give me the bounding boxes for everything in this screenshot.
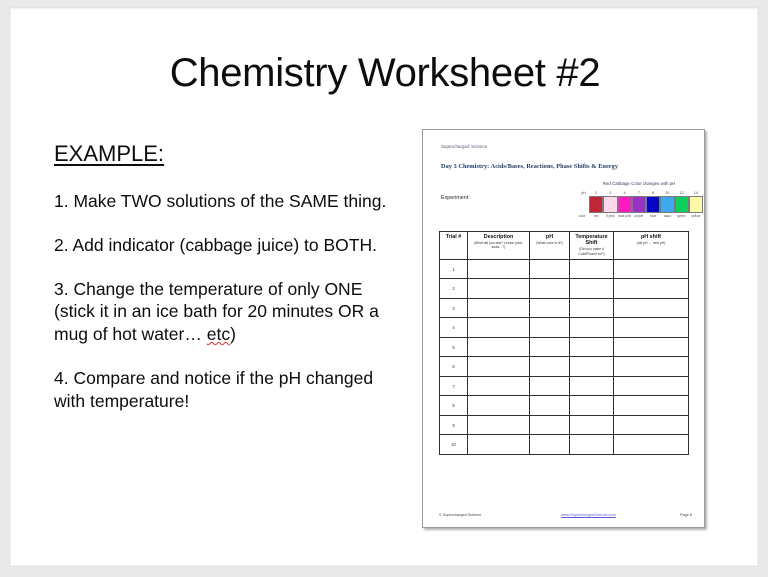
cell-ph-shift[interactable] — [614, 435, 689, 455]
cell-ph-shift[interactable] — [614, 337, 689, 357]
ph-scale-grid: pH 2 3 4 7 8 10 12 14 — [575, 191, 703, 218]
color-name: purple — [632, 213, 646, 218]
cell-description[interactable] — [468, 415, 530, 435]
cell-ph[interactable] — [530, 415, 570, 435]
cell-temperature-shift[interactable] — [570, 357, 614, 377]
trial-number: 4 — [440, 318, 468, 338]
table-row: 9 — [440, 415, 689, 435]
cell-description[interactable] — [468, 357, 530, 377]
trials-table: Trial # Description (What did you test? … — [439, 231, 689, 455]
table-row: 1 — [440, 259, 689, 279]
table-header: Trial # Description (What did you test? … — [440, 232, 689, 260]
worksheet-experiment-row: Experiment: Red Cabbage Color changes wi… — [439, 181, 688, 227]
column-title: Trial # — [441, 234, 466, 240]
color-name: blue — [646, 213, 660, 218]
table-row: 6 — [440, 357, 689, 377]
cell-ph-shift[interactable] — [614, 376, 689, 396]
column-header-temperature-shift: Temperature Shift (Did you make it Cold/… — [570, 232, 614, 260]
table-row: 7 — [440, 376, 689, 396]
copyright-text: © Supercharged Science — [439, 513, 525, 517]
experiment-label: Experiment: — [441, 195, 470, 201]
table-row: 2 — [440, 279, 689, 299]
cell-ph[interactable] — [530, 259, 570, 279]
cell-ph[interactable] — [530, 435, 570, 455]
cell-ph[interactable] — [530, 337, 570, 357]
trial-number: 9 — [440, 415, 468, 435]
cell-description[interactable] — [468, 396, 530, 416]
cell-temperature-shift[interactable] — [570, 318, 614, 338]
color-axis-label: color — [575, 213, 589, 218]
cell-ph[interactable] — [530, 396, 570, 416]
worksheet-footer: © Supercharged Science www.SuperchargedS… — [439, 513, 692, 517]
cell-ph[interactable] — [530, 376, 570, 396]
worksheet-heading: Day 3 Chemistry: Acids/Bases, Reactions,… — [441, 163, 688, 170]
ph-color-scale: Red Cabbage Color changes with pH pH 2 3… — [575, 181, 703, 218]
slide-outer-frame: Chemistry Worksheet #2 EXAMPLE: 1. Make … — [0, 0, 768, 577]
column-title: pH shift — [615, 234, 687, 240]
cell-temperature-shift[interactable] — [570, 259, 614, 279]
trial-number: 3 — [440, 298, 468, 318]
cell-ph-shift[interactable] — [614, 318, 689, 338]
column-title: Description — [469, 234, 528, 240]
cell-ph-shift[interactable] — [614, 415, 689, 435]
color-name: red — [589, 213, 603, 218]
misspelled-word: etc — [207, 324, 230, 344]
worksheet-brand: Supercharged Science — [441, 144, 688, 149]
color-name: green — [675, 213, 689, 218]
table-row: 10 — [440, 435, 689, 455]
cell-description[interactable] — [468, 279, 530, 299]
cell-ph-shift[interactable] — [614, 396, 689, 416]
step-4: 4. Compare and notice if the pH changed … — [54, 367, 404, 413]
ph-axis-label: pH — [575, 191, 589, 196]
example-heading: EXAMPLE: — [54, 141, 404, 167]
cell-ph-shift[interactable] — [614, 279, 689, 299]
ph-swatch — [603, 196, 617, 213]
ph-swatch — [618, 196, 632, 213]
page-number: Page 8 — [652, 513, 692, 517]
cell-description[interactable] — [468, 259, 530, 279]
ph-swatch — [689, 196, 703, 213]
cell-ph[interactable] — [530, 298, 570, 318]
trial-number: 10 — [440, 435, 468, 455]
table-row: 8 — [440, 396, 689, 416]
cell-ph[interactable] — [530, 279, 570, 299]
step-3: 3. Change the temperature of only ONE (s… — [54, 278, 404, 346]
step-3-text-after: ) — [230, 324, 236, 344]
trial-number: 5 — [440, 337, 468, 357]
table-header-row: Trial # Description (What did you test? … — [440, 232, 689, 260]
column-header-trial: Trial # — [440, 232, 468, 260]
trial-number: 8 — [440, 396, 468, 416]
table-row: 5 — [440, 337, 689, 357]
page-title: Chemistry Worksheet #2 — [11, 51, 759, 96]
ph-swatch — [646, 196, 660, 213]
column-title: pH — [531, 234, 568, 240]
cell-ph-shift[interactable] — [614, 298, 689, 318]
table-body: 1 2 — [440, 259, 689, 454]
cell-ph-shift[interactable] — [614, 357, 689, 377]
column-subtitle: (Did you make it Cold/Room/Hot?) — [571, 247, 612, 256]
color-name: lt pink — [603, 213, 617, 218]
cell-ph-shift[interactable] — [614, 259, 689, 279]
trial-number: 6 — [440, 357, 468, 377]
cell-temperature-shift[interactable] — [570, 298, 614, 318]
website-link[interactable]: www.SuperchargedScience.com — [525, 513, 652, 517]
worksheet-page: Supercharged Science Day 3 Chemistry: Ac… — [423, 130, 704, 527]
cell-temperature-shift[interactable] — [570, 415, 614, 435]
color-name: aqua — [660, 213, 674, 218]
cell-ph[interactable] — [530, 318, 570, 338]
trial-number: 1 — [440, 259, 468, 279]
cell-temperature-shift[interactable] — [570, 279, 614, 299]
trial-number: 2 — [440, 279, 468, 299]
column-header-ph-shift: pH shift (old pH → new pH) — [614, 232, 689, 260]
table-row: 4 — [440, 318, 689, 338]
ph-swatch — [675, 196, 689, 213]
cell-description[interactable] — [468, 376, 530, 396]
slide-canvas: Chemistry Worksheet #2 EXAMPLE: 1. Make … — [10, 8, 758, 566]
cell-temperature-shift[interactable] — [570, 337, 614, 357]
color-name: yellow — [689, 213, 703, 218]
ph-swatch — [589, 196, 603, 213]
ph-swatch — [632, 196, 646, 213]
cell-description[interactable] — [468, 298, 530, 318]
ph-scale-caption: Red Cabbage Color changes with pH — [575, 181, 703, 186]
cell-description[interactable] — [468, 318, 530, 338]
cell-description[interactable] — [468, 435, 530, 455]
cell-temperature-shift[interactable] — [570, 435, 614, 455]
column-subtitle: (old pH → new pH) — [615, 241, 687, 245]
cell-temperature-shift[interactable] — [570, 376, 614, 396]
column-subtitle: (What did you test? Lemon juice, soda…?) — [469, 241, 528, 250]
trial-number: 7 — [440, 376, 468, 396]
cell-ph[interactable] — [530, 357, 570, 377]
column-subtitle: (What color is it?) — [531, 241, 568, 245]
ph-swatch — [660, 196, 674, 213]
cell-temperature-shift[interactable] — [570, 396, 614, 416]
cell-description[interactable] — [468, 337, 530, 357]
column-header-ph: pH (What color is it?) — [530, 232, 570, 260]
table-row: 3 — [440, 298, 689, 318]
column-title: Temperature Shift — [571, 234, 612, 246]
color-name: dark pink — [618, 213, 632, 218]
worksheet-image[interactable]: Supercharged Science Day 3 Chemistry: Ac… — [422, 129, 705, 528]
step-2: 2. Add indicator (cabbage juice) to BOTH… — [54, 234, 404, 257]
body-content: EXAMPLE: 1. Make TWO solutions of the SA… — [54, 141, 404, 412]
column-header-description: Description (What did you test? Lemon ju… — [468, 232, 530, 260]
step-1: 1. Make TWO solutions of the SAME thing. — [54, 190, 404, 213]
